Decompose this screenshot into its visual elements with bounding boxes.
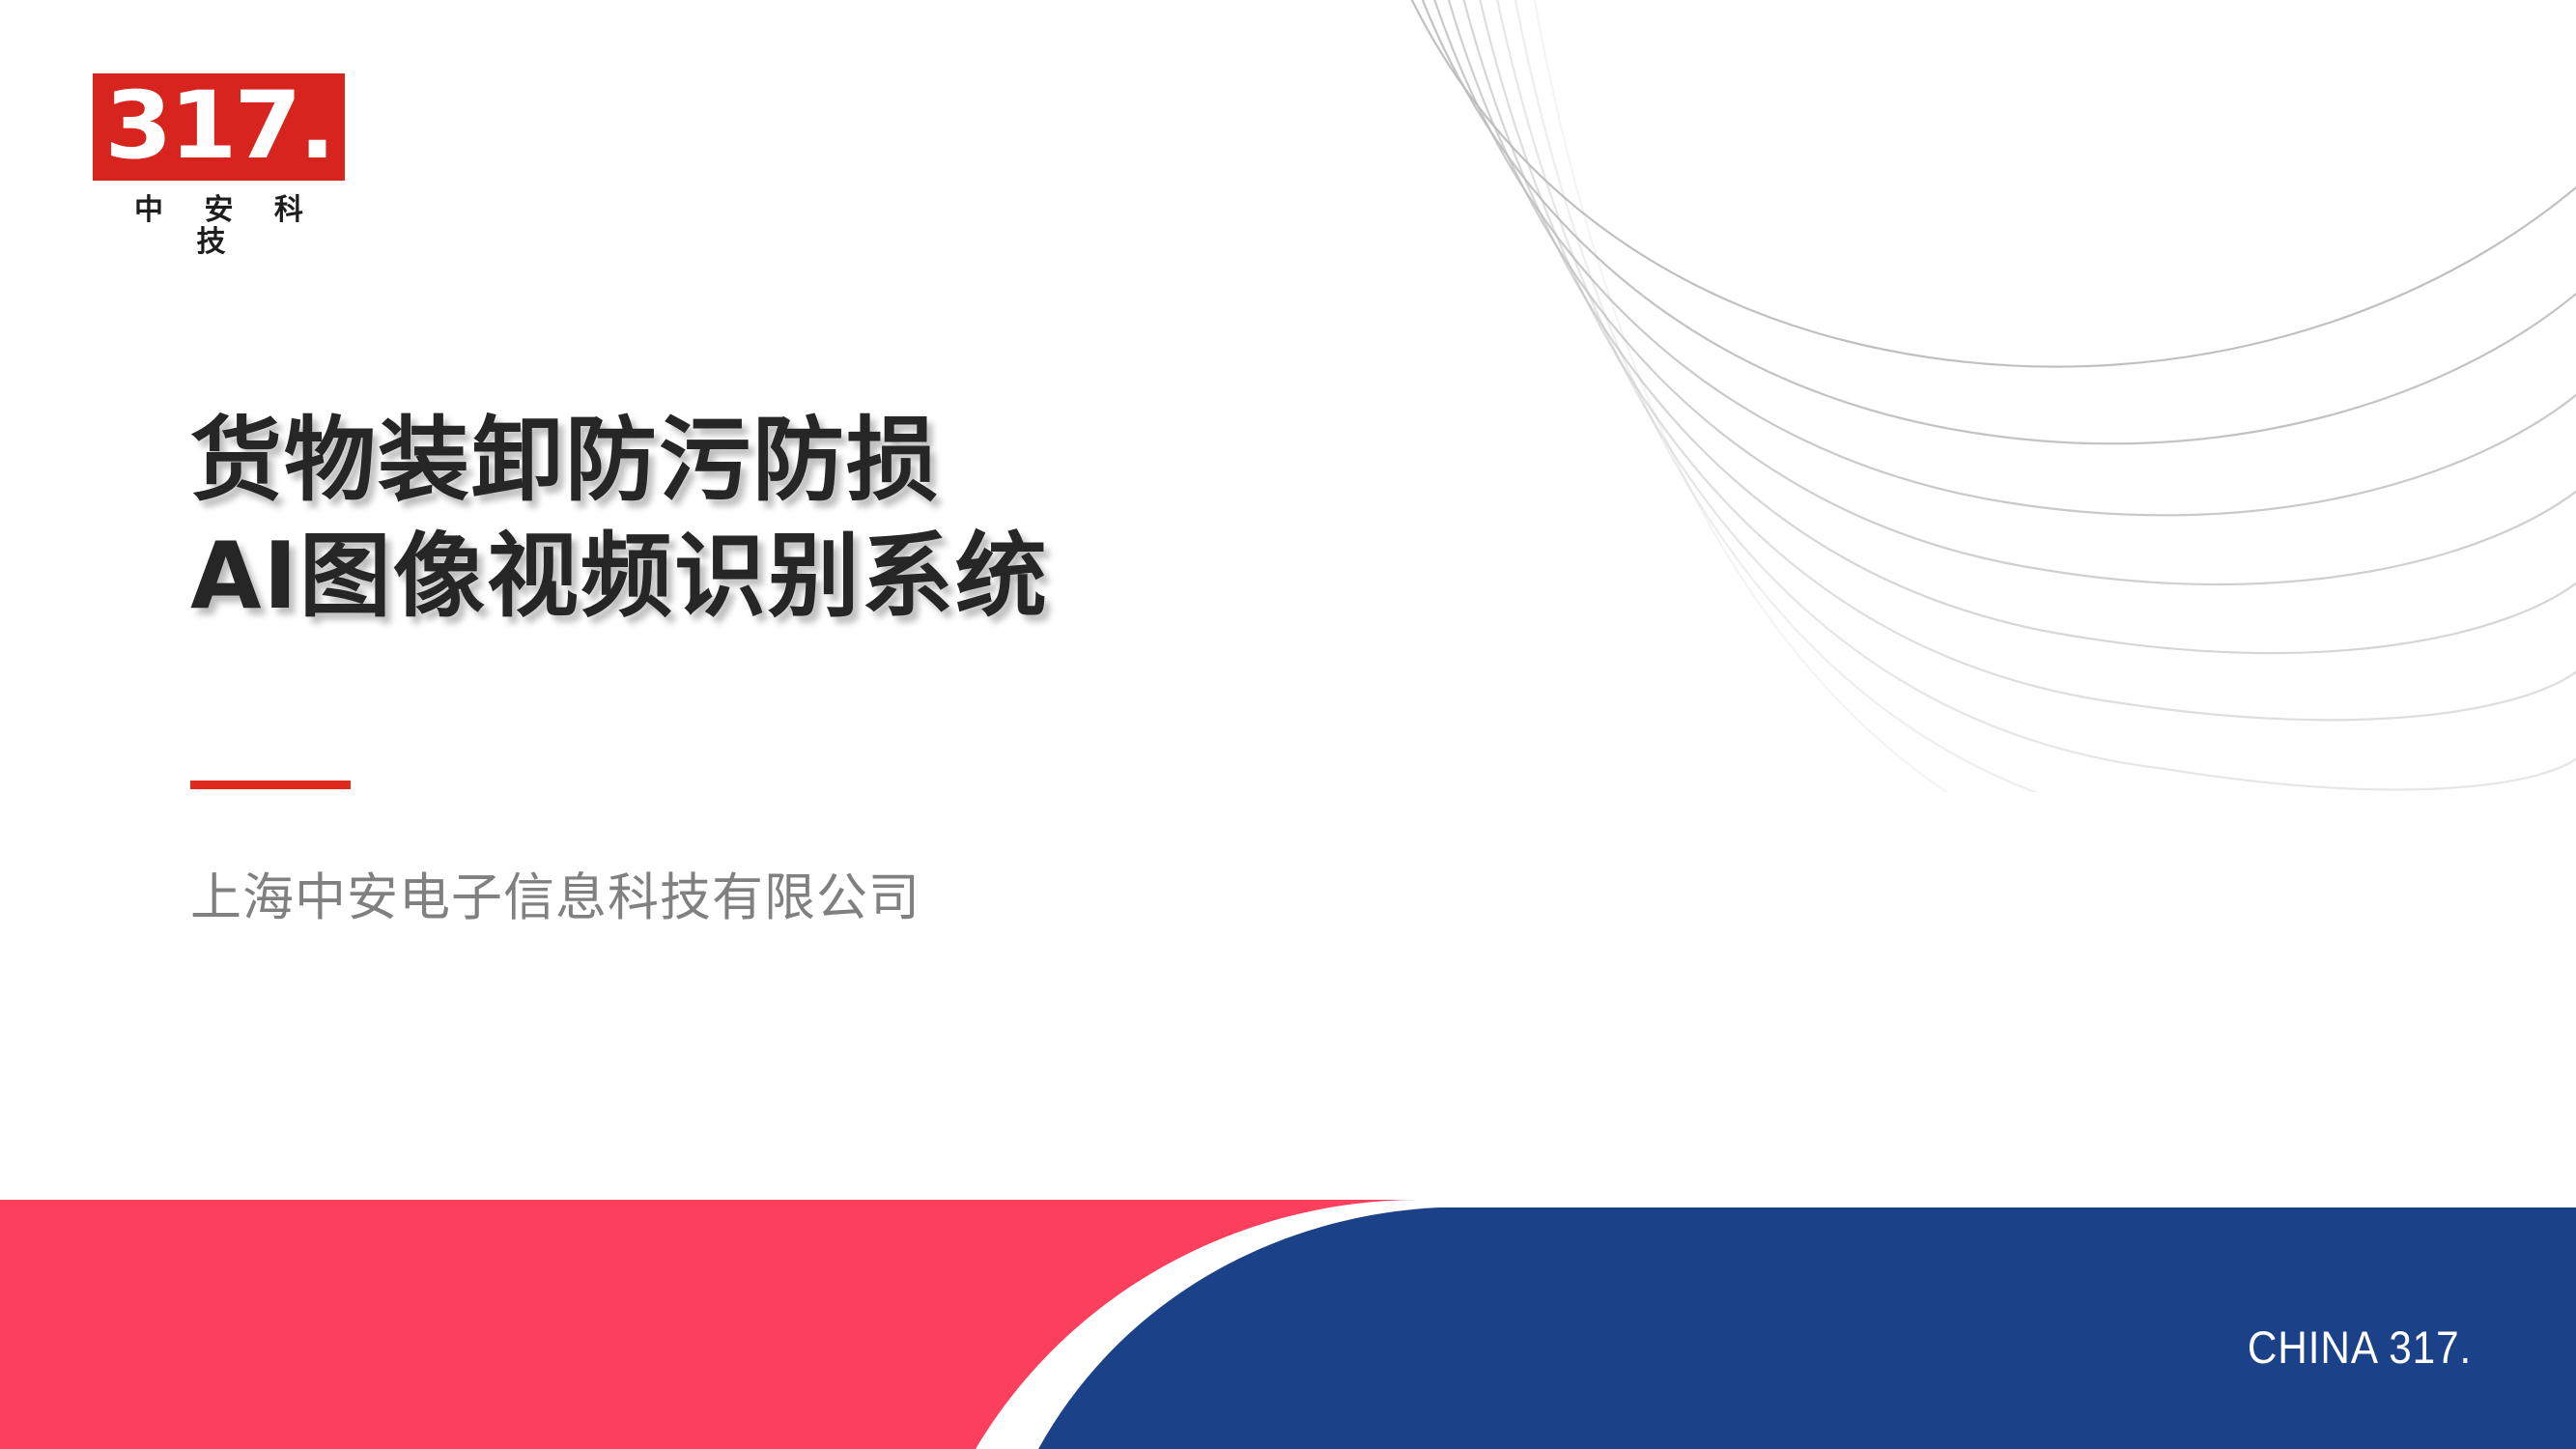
swoosh-lines-svg (1349, 0, 2576, 792)
banner-brand-label: CHINA 317. (2248, 1321, 2472, 1374)
logo-mark-text: 317. (104, 79, 332, 176)
company-subtitle: 上海中安电子信息科技有限公司 (190, 867, 920, 929)
title-divider (190, 781, 351, 789)
swoosh-lines-decoration (1349, 0, 2576, 792)
logo-mark: 317. (93, 73, 345, 181)
logo-company-short: 中 安 科 技 (93, 194, 345, 258)
page-title-line-1: 货物装卸防污防损 (190, 404, 1446, 520)
page-title-line-2: AI图像视频识别系统 (190, 520, 1446, 636)
brand-logo: 317. 中 安 科 技 (93, 73, 373, 258)
page-title: 货物装卸防污防损 AI图像视频识别系统 (190, 404, 1446, 635)
footer-banner: CHINA 317. (0, 1200, 2576, 1449)
footer-banner-shapes (0, 1200, 2576, 1449)
title-slide: 317. 中 安 科 技 货物装卸防污防损 AI图像视频识别系统 上海中安电子信… (0, 0, 2576, 1449)
